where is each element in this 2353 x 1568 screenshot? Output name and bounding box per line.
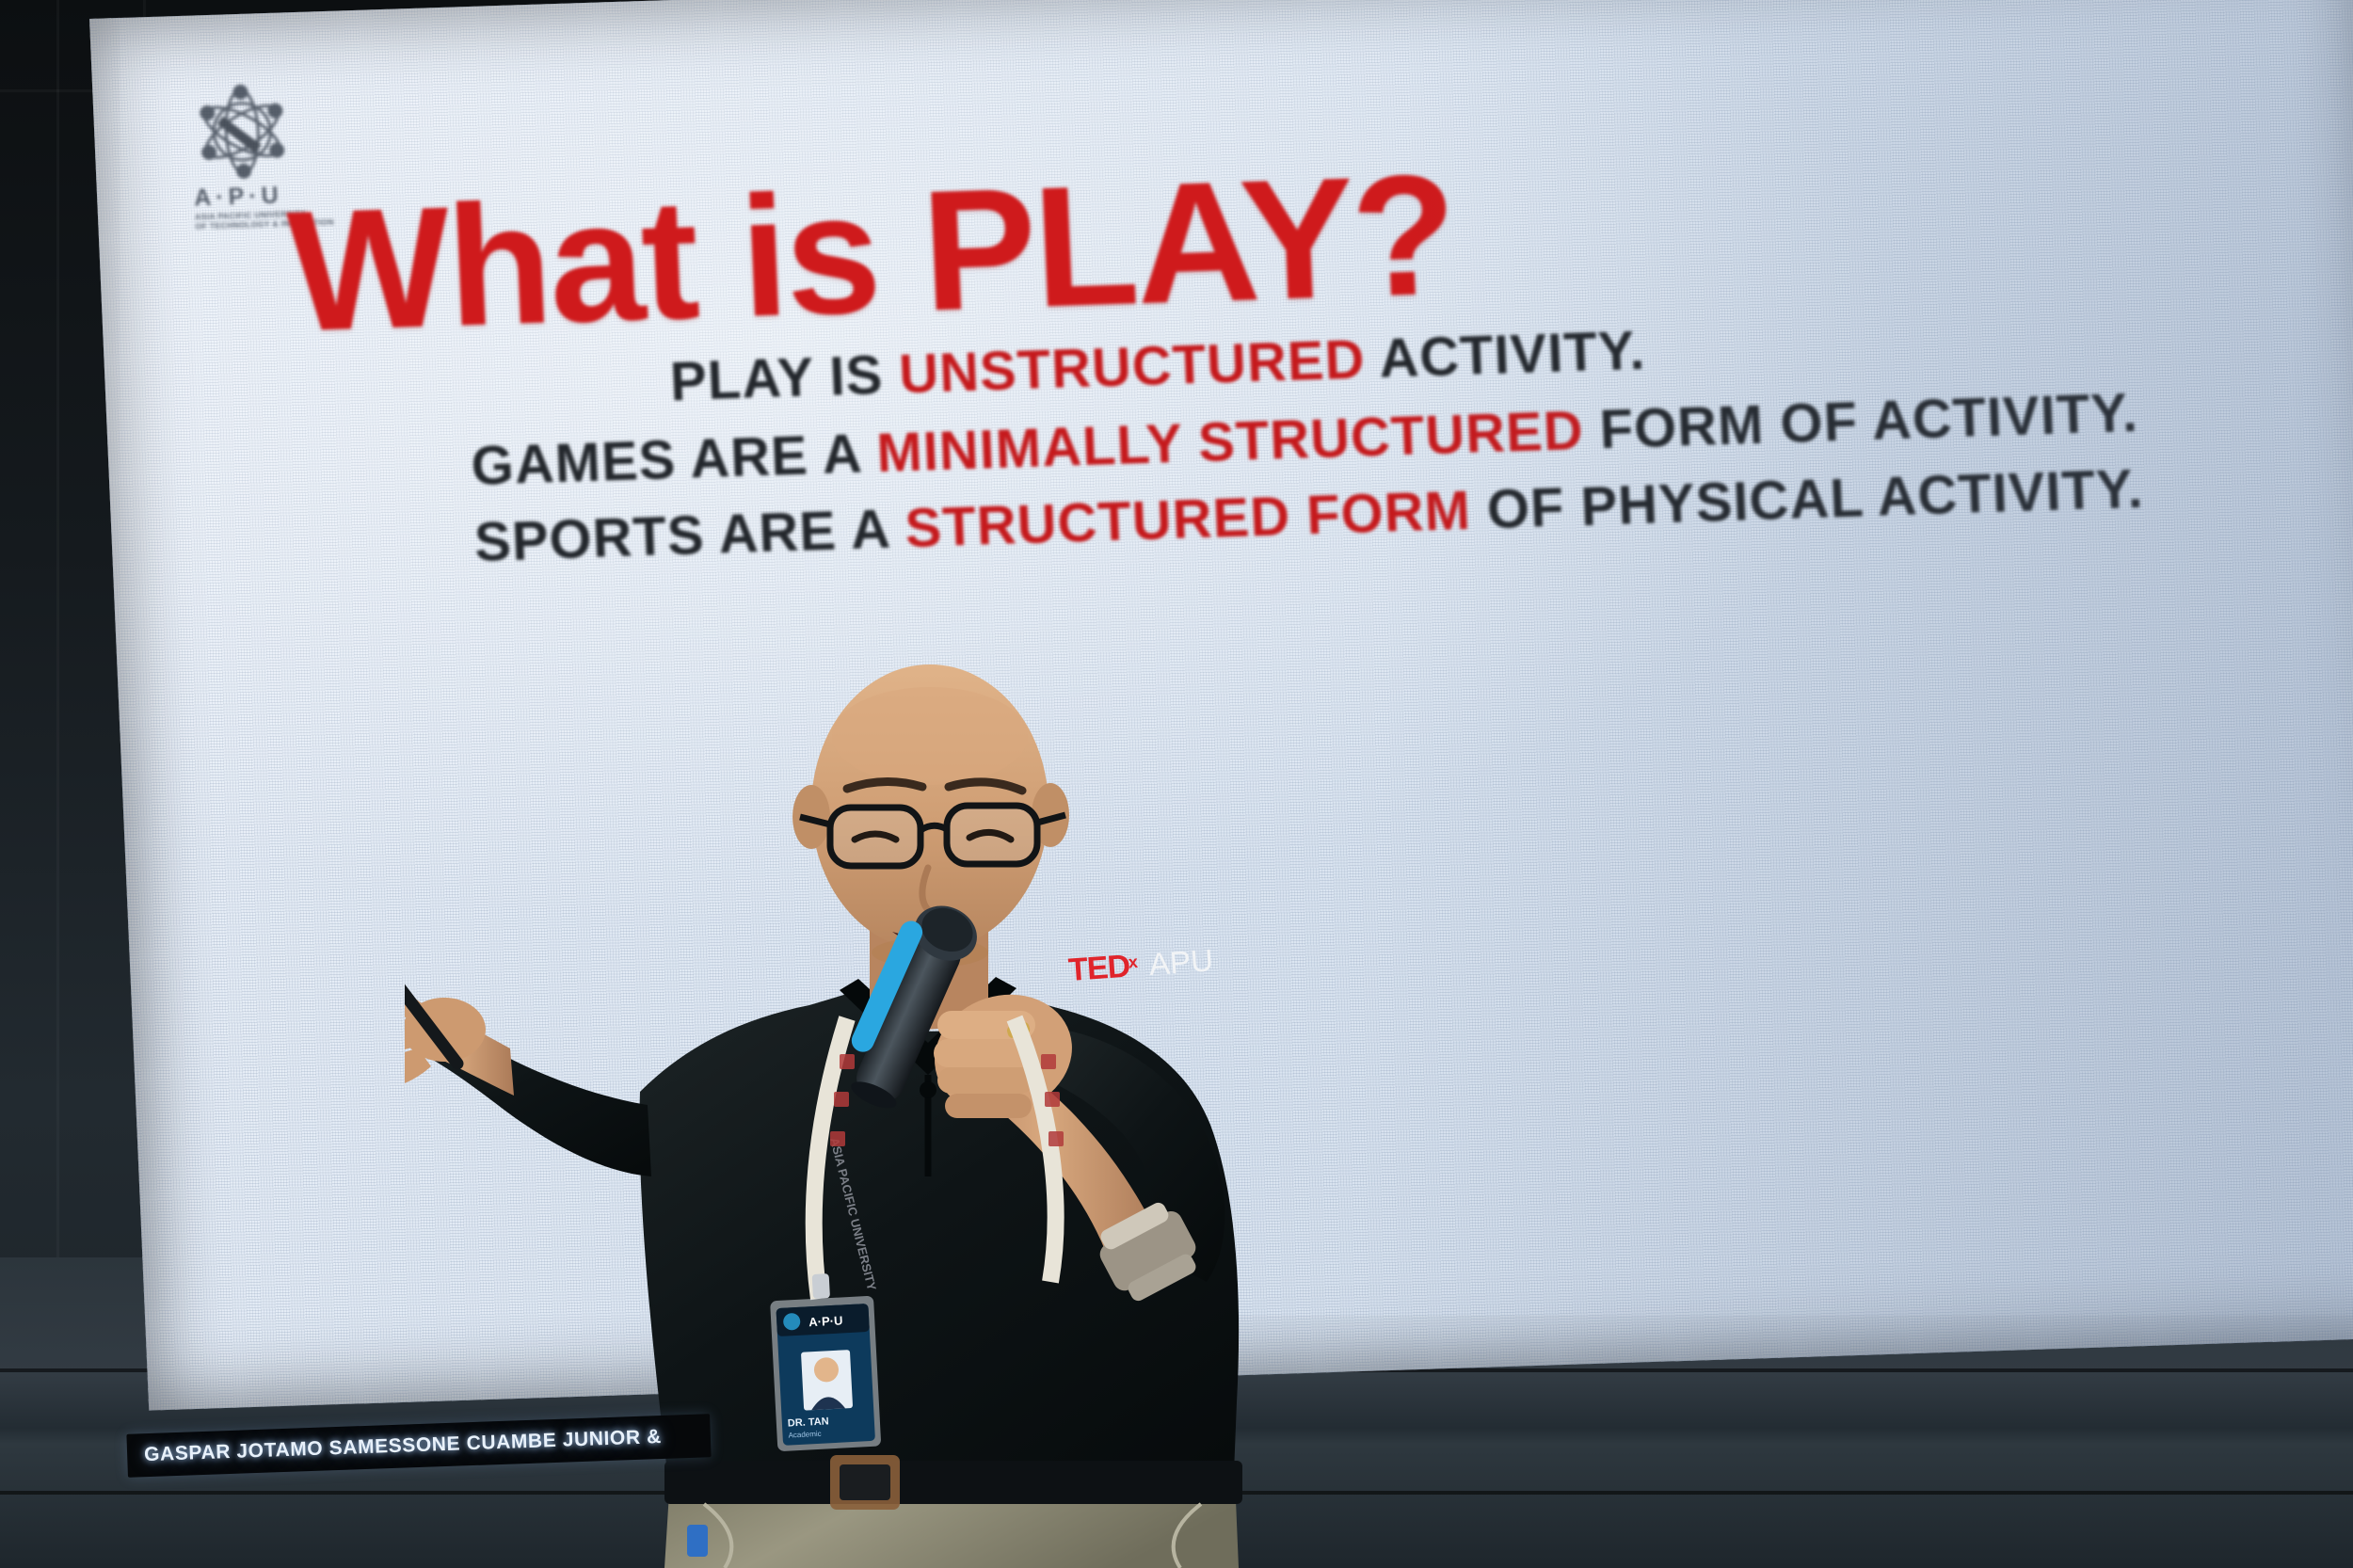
screenshot-root: A·P·U ASIA PACIFIC UNIVERSITYOF TECHNOLO… xyxy=(0,0,2353,1568)
svg-text:Academic: Academic xyxy=(788,1430,822,1440)
slide-line-play-seg-2: ACTIVITY. xyxy=(1364,320,1647,391)
slide-line-play-seg-0: PLAY IS xyxy=(669,344,901,412)
svg-text:TED: TED xyxy=(1067,949,1131,988)
slide-line-games-seg-0: GAMES ARE A xyxy=(470,423,877,497)
svg-text:A·P·U: A·P·U xyxy=(808,1313,843,1329)
slide-line-sports-seg-0: SPORTS ARE A xyxy=(473,498,906,573)
speaker-name-ticker-text: GASPAR JOTAMO SAMESSONE CUAMBE JUNIOR & xyxy=(144,1426,663,1466)
apu-wordmark: A·P·U xyxy=(194,182,284,212)
svg-text:x: x xyxy=(1128,952,1138,972)
svg-text:DR. TAN: DR. TAN xyxy=(788,1416,829,1429)
svg-text:APU: APU xyxy=(1148,942,1214,982)
